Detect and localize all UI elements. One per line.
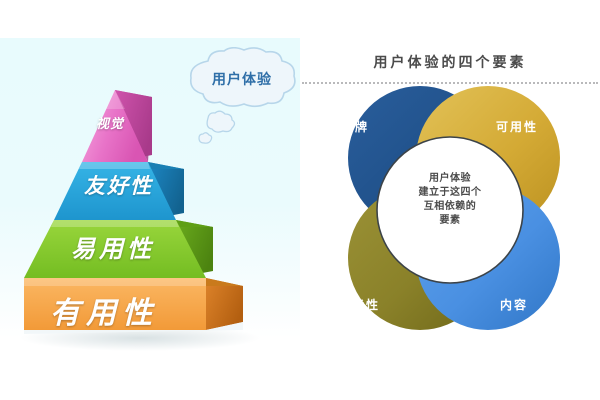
thought-bubble: 用户体验 (186, 47, 298, 109)
pyramid-level-visual (82, 90, 152, 162)
pyramid-level-easyuse-highlight (51, 220, 179, 227)
pyramid-level-useful-highlight (24, 278, 206, 286)
diagram-canvas: 视觉 友好性 易用性 有用性 用户体验 用户体验的四个要素 (0, 0, 600, 400)
venn-panel: 用户体验的四个要素 (300, 0, 600, 400)
pyramid-level-easyuse (24, 220, 243, 286)
pyramid-level-friendly (54, 162, 213, 227)
venn-center-circle[interactable] (377, 137, 523, 283)
pyramid-panel: 视觉 友好性 易用性 有用性 用户体验 (0, 0, 300, 400)
venn-svg (300, 0, 600, 400)
pyramid-level-easyuse-front (24, 220, 206, 278)
thought-bubble-puffs (196, 106, 240, 150)
pyramid-level-useful (24, 278, 243, 334)
pyramid-level-friendly-highlight (79, 162, 150, 169)
thought-bubble-text: 用户体验 (186, 47, 298, 109)
